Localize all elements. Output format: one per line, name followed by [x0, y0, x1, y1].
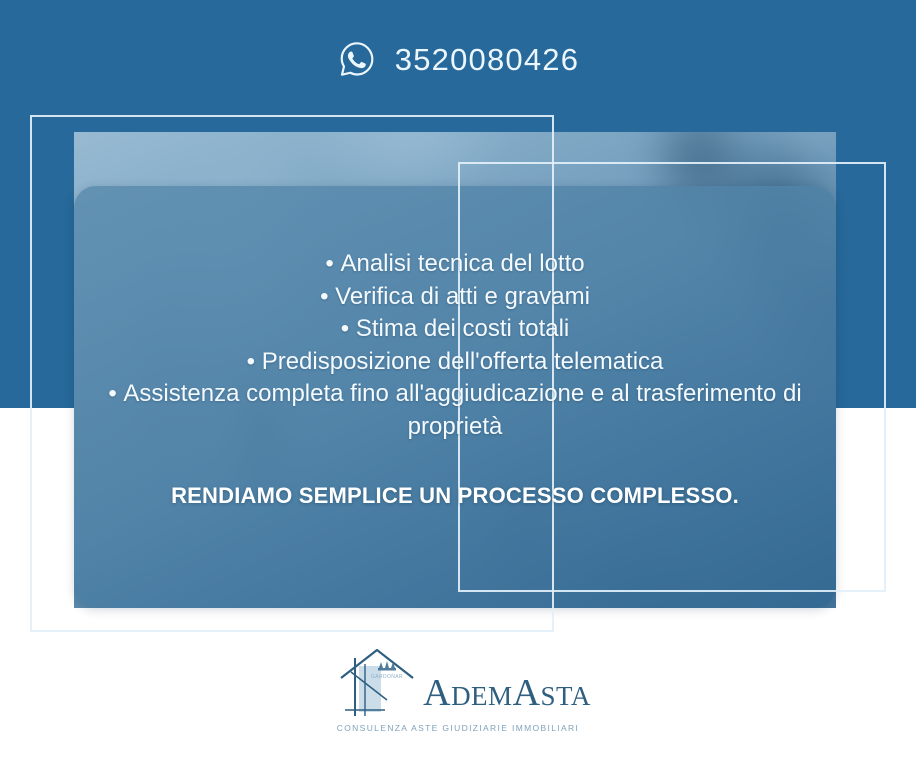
phone-number[interactable]: 3520080426: [395, 44, 579, 75]
tagline: RENDIAMO SEMPLICE UN PROCESSO COMPLESSO.: [171, 483, 739, 509]
list-item: Assistenza completa fino all'aggiudicazi…: [74, 378, 836, 443]
service-list: Analisi tecnica del lotto Verifica di at…: [74, 248, 836, 443]
list-item: Verifica di atti e gravami: [74, 281, 836, 314]
logo-word-a2: A: [513, 672, 541, 714]
logo-word-sta: STA: [541, 681, 591, 711]
logo-word-a1: A: [423, 672, 451, 714]
logo-word-dem: DEM: [451, 681, 513, 711]
logo-subtitle: CONSULENZA ASTE GIUDIZIARIE IMMOBILIARI: [337, 723, 580, 733]
logo-row: GARDONAR ADEMASTA: [325, 648, 591, 720]
card-content: Analisi tecnica del lotto Verifica di at…: [74, 186, 836, 608]
poster-canvas: 3520080426 Analisi tecnica del lotto Ver…: [0, 0, 916, 768]
logo-mark-inner-text: GARDONAR: [371, 674, 403, 680]
house-logo-icon: GARDONAR: [325, 648, 421, 720]
contact-header: 3520080426: [0, 33, 916, 85]
list-item: Stima dei costi totali: [74, 313, 836, 346]
logo-wordmark: ADEMASTA: [423, 674, 591, 720]
brand-logo: GARDONAR ADEMASTA CONSULENZA ASTE GIUDIZ…: [0, 648, 916, 733]
whatsapp-icon[interactable]: [337, 39, 377, 79]
list-item: Analisi tecnica del lotto: [74, 248, 836, 281]
list-item: Predisposizione dell'offerta telematica: [74, 346, 836, 379]
